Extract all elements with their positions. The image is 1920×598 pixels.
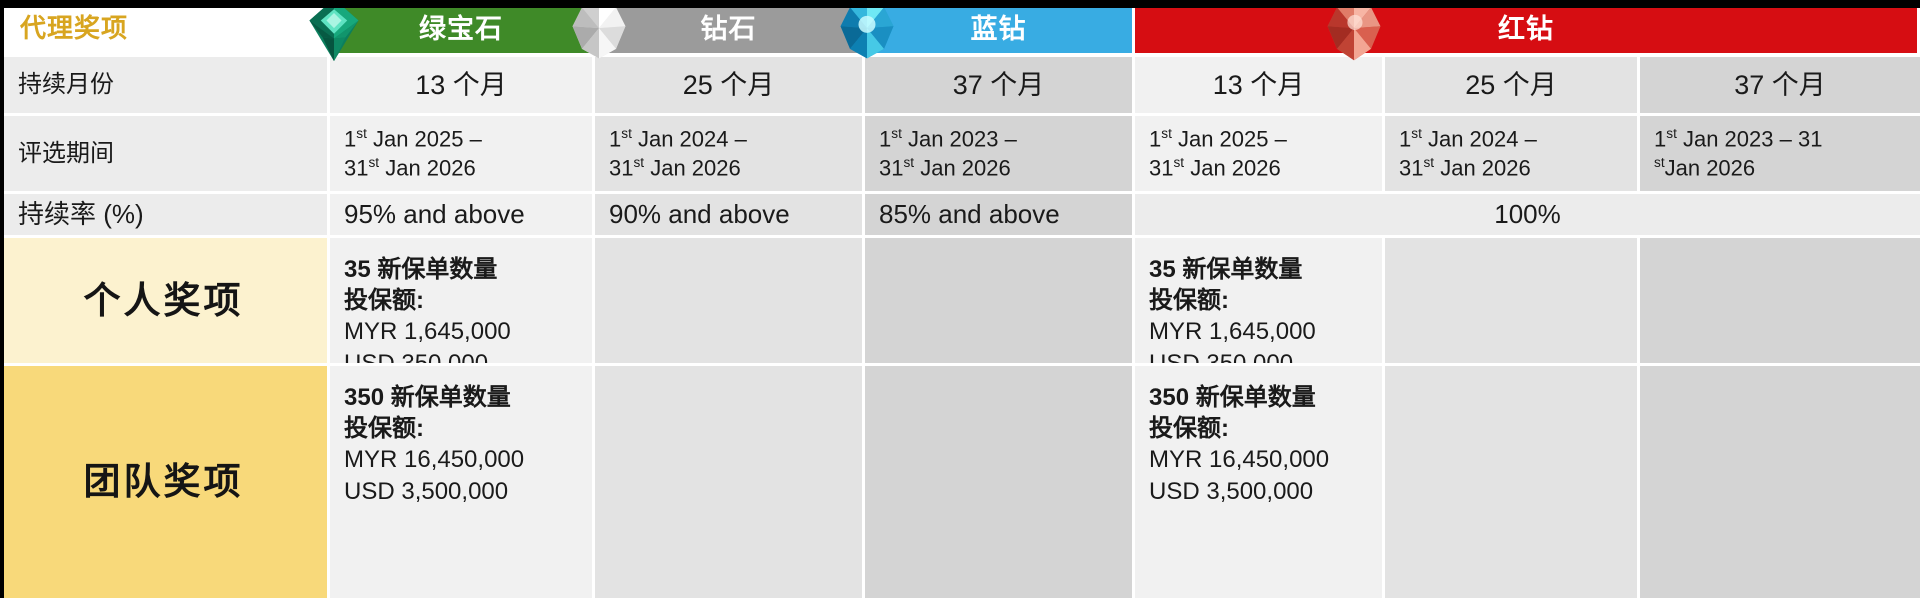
row-label-team-award-text: 团队奖项 [84, 459, 244, 504]
personal-sum-label: 投保额: [344, 285, 424, 316]
duration-value: 37 个月 [953, 69, 1045, 102]
table-title: 代理奖项 [0, 0, 330, 57]
period-line2: 31st Jan 2026 [344, 154, 476, 182]
team-usd: USD 3,500,000 [1149, 476, 1313, 507]
row-label-persistency-text: 持续率 (%) [18, 199, 144, 231]
row-label-personal-award: 个人奖项 [0, 238, 330, 366]
period-diamond-25: 1st Jan 2024 – 31st Jan 2026 [595, 116, 865, 194]
duration-red-13: 13 个月 [1135, 57, 1385, 116]
period-line2: stJan 2026 [1654, 154, 1755, 182]
personal-usd: USD 350,000 [344, 348, 488, 366]
team-award-diamond-empty [595, 366, 865, 598]
period-line2: 31st Jan 2026 [1149, 154, 1281, 182]
personal-myr: MYR 1,645,000 [1149, 316, 1316, 347]
team-sum-label: 投保额: [1149, 413, 1229, 444]
period-emerald-13: 1st Jan 2025 – 31st Jan 2026 [330, 116, 595, 194]
row-label-team-award: 团队奖项 [0, 366, 330, 598]
tier-header-diamond: 钻石 [595, 0, 865, 57]
persistency-red: 100% [1135, 194, 1920, 238]
duration-value: 13 个月 [1213, 69, 1305, 102]
team-award-red37-empty [1640, 366, 1920, 598]
period-line1: 1st Jan 2025 – [344, 125, 482, 153]
team-usd: USD 3,500,000 [344, 476, 508, 507]
top-black-strip [0, 0, 1920, 8]
duration-red-37: 37 个月 [1640, 57, 1920, 116]
team-count-line: 350 新保单数量 [344, 382, 511, 413]
team-award-emerald: 350 新保单数量 投保额: MYR 16,450,000 USD 3,500,… [330, 366, 595, 598]
team-award-blue-empty [865, 366, 1135, 598]
tier-label-red-diamond: 红钻 [1498, 7, 1554, 46]
tier-header-blue-diamond: 蓝钻 [865, 0, 1135, 57]
period-line2: 31st Jan 2026 [1399, 154, 1531, 182]
personal-usd: USD 350,000 [1149, 348, 1293, 366]
tier-header-red-diamond: 红钻 [1135, 0, 1920, 57]
personal-myr: MYR 1,645,000 [344, 316, 511, 347]
tier-label-blue-diamond: 蓝钻 [971, 7, 1027, 46]
row-label-persistency: 持续率 (%) [0, 194, 330, 238]
duration-emerald-13: 13 个月 [330, 57, 595, 116]
left-black-edge [0, 0, 4, 598]
period-line2: 31st Jan 2026 [879, 154, 1011, 182]
persistency-value: 90% and above [609, 199, 848, 231]
tier-header-emerald: 绿宝石 [330, 0, 595, 57]
row-label-period-text: 评选期间 [18, 139, 114, 168]
personal-count-line: 35 新保单数量 [1149, 254, 1302, 285]
period-red-37: 1st Jan 2023 – 31 stJan 2026 [1640, 116, 1920, 194]
period-line1: 1st Jan 2023 – [879, 125, 1017, 153]
row-label-period: 评选期间 [0, 116, 330, 194]
row-label-duration: 持续月份 [0, 57, 330, 116]
period-line1: 1st Jan 2025 – [1149, 125, 1287, 153]
duration-red-25: 25 个月 [1385, 57, 1640, 116]
team-award-red: 350 新保单数量 投保额: MYR 16,450,000 USD 3,500,… [1135, 366, 1385, 598]
personal-sum-label: 投保额: [1149, 285, 1229, 316]
row-label-duration-text: 持续月份 [18, 70, 114, 99]
period-line1: 1st Jan 2023 – 31 [1654, 125, 1822, 153]
persistency-blue: 85% and above [865, 194, 1135, 238]
slide-root: 代理奖项 绿宝石 钻石 蓝钻 红钻 持续月份 13 个月 25 个月 37 个月… [0, 0, 1920, 598]
persistency-value: 100% [1494, 199, 1561, 231]
duration-value: 13 个月 [415, 69, 507, 102]
personal-award-diamond-empty [595, 238, 865, 366]
team-sum-label: 投保额: [344, 413, 424, 444]
team-count-line: 350 新保单数量 [1149, 382, 1316, 413]
period-red-13: 1st Jan 2025 – 31st Jan 2026 [1135, 116, 1385, 194]
persistency-value: 95% and above [344, 199, 578, 231]
personal-award-red25-empty [1385, 238, 1640, 366]
persistency-value: 85% and above [879, 199, 1118, 231]
row-label-personal-award-text: 个人奖项 [84, 278, 244, 323]
team-myr: MYR 16,450,000 [1149, 444, 1329, 475]
personal-count-line: 35 新保单数量 [344, 254, 497, 285]
tier-label-emerald: 绿宝石 [419, 7, 503, 46]
duration-value: 25 个月 [683, 69, 775, 102]
period-red-25: 1st Jan 2024 – 31st Jan 2026 [1385, 116, 1640, 194]
personal-award-emerald: 35 新保单数量 投保额: MYR 1,645,000 USD 350,000 [330, 238, 595, 366]
duration-value: 37 个月 [1734, 69, 1826, 102]
team-myr: MYR 16,450,000 [344, 444, 524, 475]
persistency-emerald: 95% and above [330, 194, 595, 238]
agent-awards-table: 代理奖项 绿宝石 钻石 蓝钻 红钻 持续月份 13 个月 25 个月 37 个月… [0, 0, 1920, 598]
duration-value: 25 个月 [1465, 69, 1557, 102]
period-blue-37: 1st Jan 2023 – 31st Jan 2026 [865, 116, 1135, 194]
period-line1: 1st Jan 2024 – [609, 125, 747, 153]
duration-blue-37: 37 个月 [865, 57, 1135, 116]
personal-award-red37-empty [1640, 238, 1920, 366]
personal-award-blue-empty [865, 238, 1135, 366]
table-title-label: 代理奖项 [20, 8, 128, 45]
period-line2: 31st Jan 2026 [609, 154, 741, 182]
tier-label-diamond: 钻石 [701, 7, 757, 46]
duration-diamond-25: 25 个月 [595, 57, 865, 116]
period-line1: 1st Jan 2024 – [1399, 125, 1537, 153]
persistency-diamond: 90% and above [595, 194, 865, 238]
personal-award-red: 35 新保单数量 投保额: MYR 1,645,000 USD 350,000 [1135, 238, 1385, 366]
team-award-red25-empty [1385, 366, 1640, 598]
